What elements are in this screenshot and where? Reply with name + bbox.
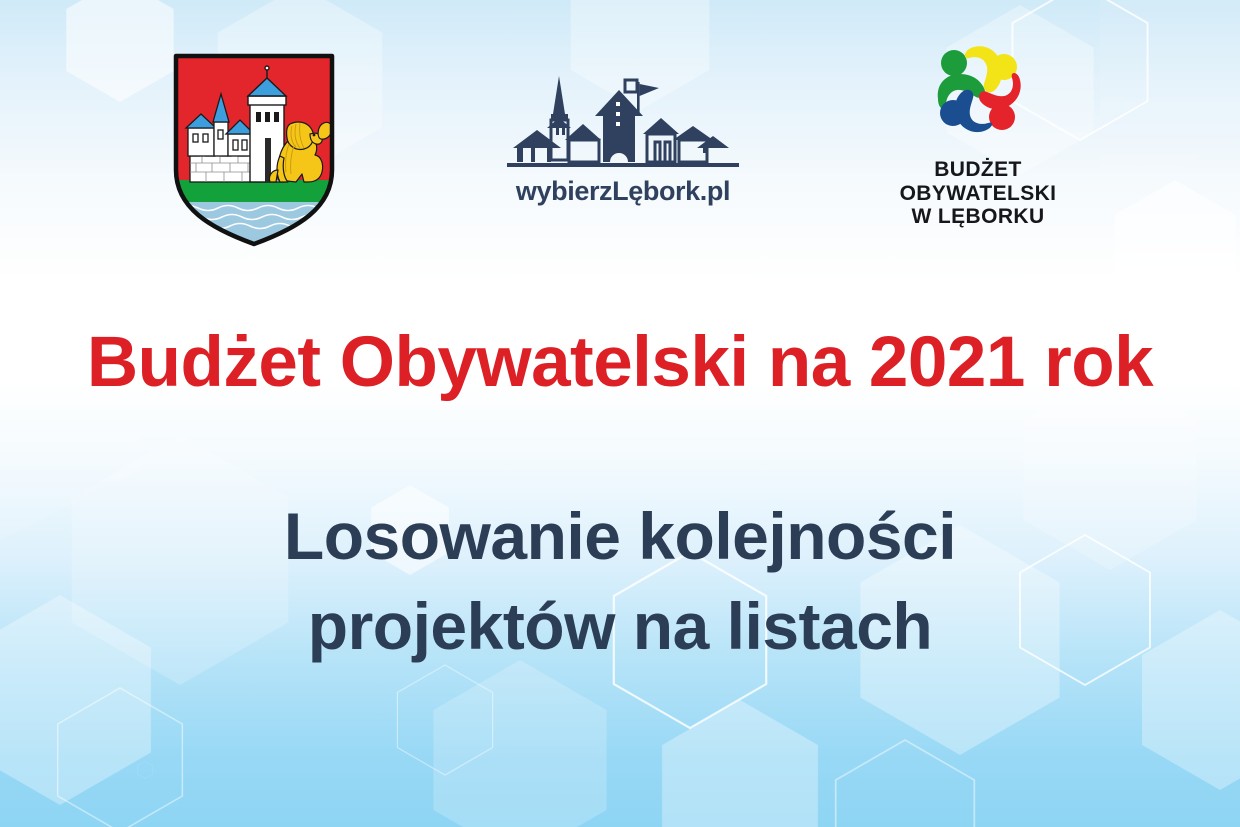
- subtitle-line-2: projektów na listach: [0, 582, 1240, 672]
- subtitle-line-1: Losowanie kolejności: [0, 492, 1240, 582]
- people-pinwheel-icon: [916, 26, 1040, 150]
- town-skyline-icon: [507, 68, 739, 172]
- budzet-obywatelski-logo: BUDŻET OBYWATELSKI W LĘBORKU: [868, 26, 1088, 229]
- bo-line-1: BUDŻET: [868, 158, 1088, 182]
- budzet-obywatelski-wordmark: BUDŻET OBYWATELSKI W LĘBORKU: [868, 158, 1088, 229]
- wybierz-lebork-wordmark: wybierzLębork.pl: [498, 176, 748, 207]
- page-subtitle: Losowanie kolejności projektów na listac…: [0, 492, 1240, 672]
- page-title: Budżet Obywatelski na 2021 rok: [0, 327, 1240, 398]
- logo-row: wybierzLębork.pl: [0, 0, 1240, 270]
- lebork-coat-of-arms-icon: [172, 52, 336, 248]
- bo-line-3: W LĘBORKU: [868, 205, 1088, 229]
- slide-root: wybierzLębork.pl: [0, 0, 1240, 827]
- bo-line-2: OBYWATELSKI: [868, 182, 1088, 206]
- wybierz-lebork-logo: wybierzLębork.pl: [498, 68, 748, 207]
